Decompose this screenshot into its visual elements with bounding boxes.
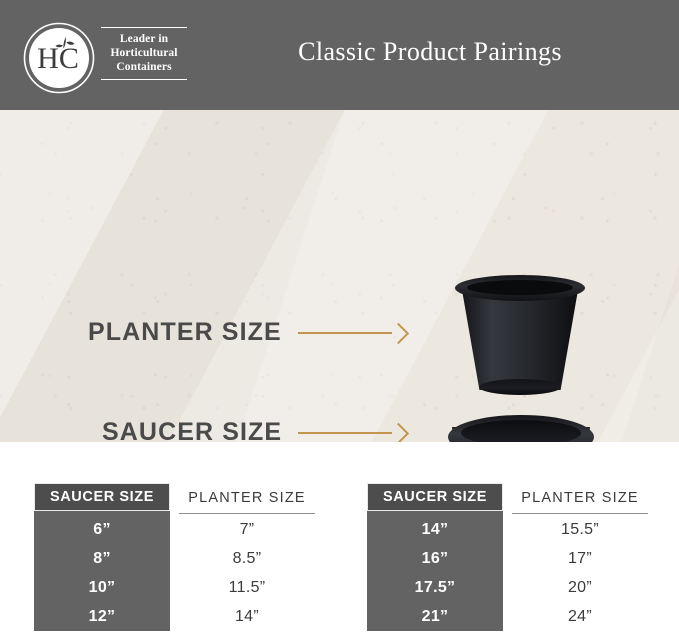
column-header-saucer-size: SAUCER SIZE bbox=[367, 483, 503, 511]
product-illustration-stage: PLANTER SIZE SAUCER SIZE bbox=[0, 110, 679, 442]
planter-size-cells: 15.5” 17” 20” 24” bbox=[512, 515, 648, 631]
table-cell-saucer: 14” bbox=[367, 515, 503, 544]
table-cell-planter: 7” bbox=[179, 515, 315, 544]
table-cell-saucer: 12” bbox=[34, 602, 170, 631]
planter-rim-opening bbox=[467, 280, 573, 295]
size-table-left: SAUCER SIZE PLANTER SIZE 6” 8” 10” 12” 7… bbox=[34, 483, 315, 631]
table-cell-planter: 14” bbox=[179, 602, 315, 631]
table-cell-saucer: 21” bbox=[367, 602, 503, 631]
table-cell-planter: 15.5” bbox=[512, 515, 648, 544]
black-planter-pot-image bbox=[455, 275, 585, 395]
tagline-line-2: Horticultural bbox=[101, 46, 187, 60]
tagline-line-3: Containers bbox=[101, 60, 187, 74]
table-cell-saucer: 10” bbox=[34, 573, 170, 602]
table-cell-planter: 8.5” bbox=[179, 544, 315, 573]
table-cell-saucer: 16” bbox=[367, 544, 503, 573]
table-cell-planter: 17” bbox=[512, 544, 648, 573]
header-bar: HC Leader in Horticultural Containers Cl… bbox=[0, 0, 679, 110]
size-table-right: SAUCER SIZE PLANTER SIZE 14” 16” 17.5” 2… bbox=[367, 483, 648, 631]
table-cell-planter: 24” bbox=[512, 602, 648, 631]
tagline-line-1: Leader in bbox=[101, 32, 187, 46]
saucer-size-cells: 6” 8” 10” 12” bbox=[34, 515, 170, 631]
planter-size-cells: 7” 8.5” 11.5” 14” bbox=[179, 515, 315, 631]
black-saucer-image bbox=[448, 415, 594, 442]
callout-planter-label: PLANTER SIZE bbox=[88, 318, 282, 347]
column-header-planter-size: PLANTER SIZE bbox=[179, 483, 315, 514]
callout-planter-size: PLANTER SIZE bbox=[88, 318, 406, 347]
planter-body bbox=[462, 290, 578, 390]
tagline-rule-bottom bbox=[101, 79, 187, 80]
hc-monogram-leaf-logo: HC bbox=[22, 21, 96, 95]
callout-saucer-label: SAUCER SIZE bbox=[102, 418, 282, 442]
table-cell-saucer: 8” bbox=[34, 544, 170, 573]
right-arrow-icon bbox=[298, 424, 406, 442]
callout-saucer-size: SAUCER SIZE bbox=[102, 418, 406, 442]
page-title: Classic Product Pairings bbox=[200, 37, 660, 67]
planter-base bbox=[479, 379, 561, 395]
column-header-planter-size: PLANTER SIZE bbox=[512, 483, 648, 514]
table-cell-planter: 20” bbox=[512, 573, 648, 602]
table-cell-planter: 11.5” bbox=[179, 573, 315, 602]
saucer-basin bbox=[461, 420, 581, 442]
brand-logo: HC bbox=[22, 21, 96, 95]
right-arrow-icon bbox=[298, 324, 406, 342]
tagline-rule-top bbox=[101, 27, 187, 28]
table-cell-saucer: 17.5” bbox=[367, 573, 503, 602]
saucer-size-cells: 14” 16” 17.5” 21” bbox=[367, 515, 503, 631]
column-header-saucer-size: SAUCER SIZE bbox=[34, 483, 170, 511]
table-cell-saucer: 6” bbox=[34, 515, 170, 544]
brand-tagline: Leader in Horticultural Containers bbox=[101, 27, 187, 80]
